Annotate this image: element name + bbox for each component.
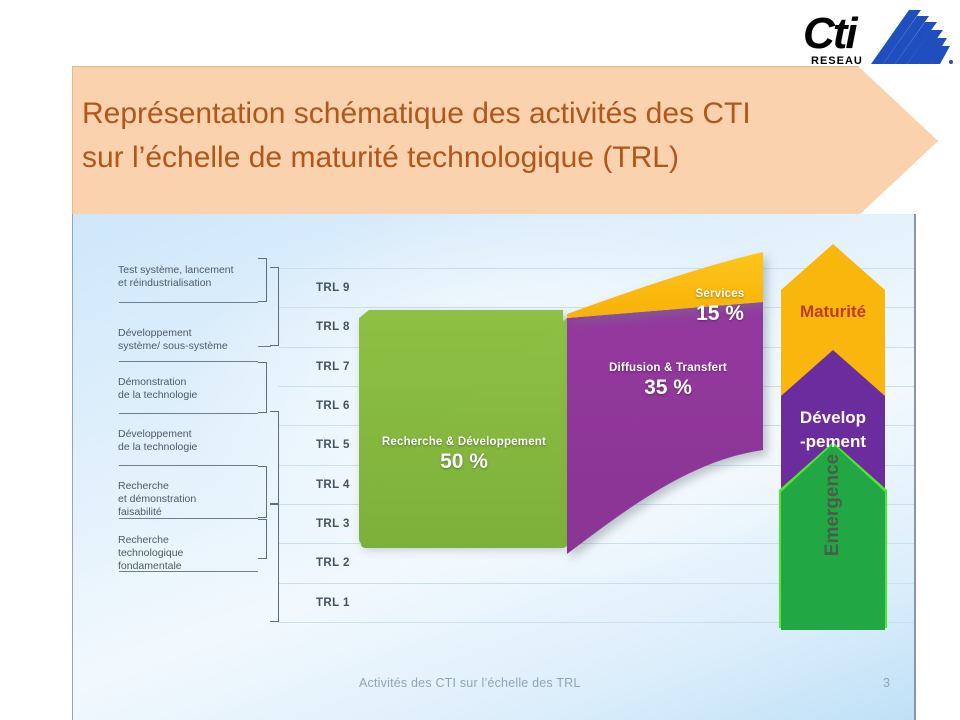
arrow-label-developpement: Dévelop -pement (781, 406, 885, 454)
footer-page-number: 3 (883, 676, 890, 690)
segment-diffusion-transfert (567, 302, 763, 554)
arrow-label-maturite: Maturité (781, 302, 885, 322)
slide-footer: Activités des CTI sur l’échelle des TRL … (73, 676, 914, 694)
label-recherche-developpement: Recherche & Développement 50 % (361, 436, 567, 474)
svg-text:Cti: Cti (803, 9, 858, 58)
arrow-label-emergence: Emergence (822, 453, 844, 557)
label-services: Services 15 % (665, 288, 775, 326)
page-title: Représentation schématique des activités… (82, 92, 912, 180)
svg-text:RESEAU: RESEAU (811, 55, 863, 67)
slide: Cti RESEAU Représentation schématique de… (0, 0, 960, 720)
content-panel: TRL 9 TRL 8 TRL 7 TRL 6 TRL 5 TRL 4 TRL … (72, 214, 916, 720)
label-diffusion-transfert: Diffusion & Transfert 35 % (573, 362, 763, 400)
footer-title: Activités des CTI sur l’échelle des TRL (359, 676, 581, 690)
maturity-arrow-column: Maturité Dévelop -pement Emergence (773, 244, 893, 624)
